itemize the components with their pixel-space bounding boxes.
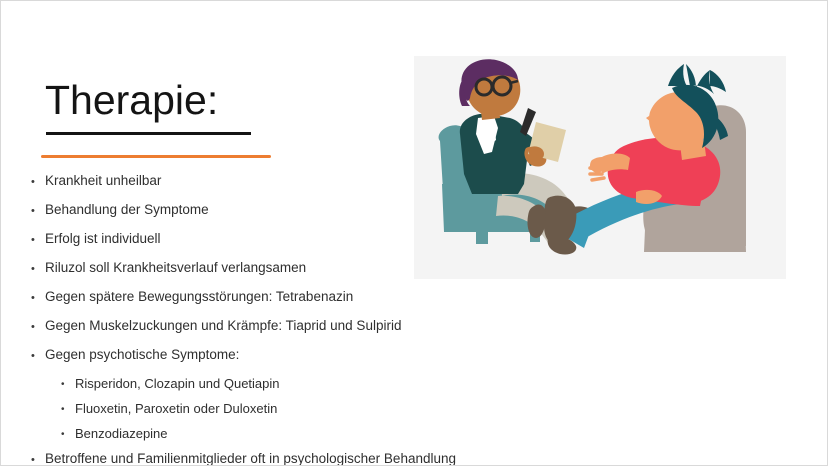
list-item-label: Behandlung der Symptome [45, 200, 209, 220]
list-item-label: Erfolg ist individuell [45, 229, 161, 249]
bullet-marker-icon: • [31, 345, 45, 366]
bullet-marker-icon: • [31, 316, 45, 337]
therapy-session-illustration [414, 56, 786, 279]
bullet-marker-icon: • [31, 258, 45, 279]
sub-list-item-label: Benzodiazepine [75, 424, 168, 444]
bullet-marker-icon: • [31, 287, 45, 308]
sub-list-item-label: Risperidon, Clozapin und Quetiapin [75, 374, 280, 394]
bullet-marker-icon: • [31, 200, 45, 221]
list-item-label: Gegen psychotische Symptome: [45, 345, 239, 365]
bullet-marker-icon: • [61, 399, 75, 420]
slide: Therapie: • Krankheit unheilbar • Behand… [0, 0, 828, 466]
bullet-marker-icon: • [61, 424, 75, 445]
bullet-marker-icon: • [61, 374, 75, 395]
sub-list-item: • Risperidon, Clozapin und Quetiapin [31, 374, 521, 399]
list-item-label: Betroffene und Familienmitglieder oft in… [45, 449, 456, 466]
title-underline [46, 132, 251, 135]
bullet-marker-icon: • [31, 449, 45, 466]
page-title-block: Therapie: [45, 77, 218, 123]
page-title: Therapie: [45, 77, 218, 123]
list-item-label: Krankheit unheilbar [45, 171, 161, 191]
list-item-label: Gegen spätere Bewegungsstörungen: Tetrab… [45, 287, 353, 307]
list-item-label: Riluzol soll Krankheitsverlauf verlangsa… [45, 258, 306, 278]
bullet-marker-icon: • [31, 229, 45, 250]
sub-list-item: • Fluoxetin, Paroxetin oder Duloxetin [31, 399, 521, 424]
accent-divider [41, 155, 271, 158]
list-item: • Gegen Muskelzuckungen und Krämpfe: Tia… [31, 316, 521, 345]
list-item: • Betroffene und Familienmitglieder oft … [31, 449, 521, 466]
list-item: • Gegen psychotische Symptome: [31, 345, 521, 374]
bullet-marker-icon: • [31, 171, 45, 192]
sub-list-item: • Benzodiazepine [31, 424, 521, 449]
list-item-label: Gegen Muskelzuckungen und Krämpfe: Tiapr… [45, 316, 401, 336]
sub-list-item-label: Fluoxetin, Paroxetin oder Duloxetin [75, 399, 277, 419]
list-item: • Gegen spätere Bewegungsstörungen: Tetr… [31, 287, 521, 316]
